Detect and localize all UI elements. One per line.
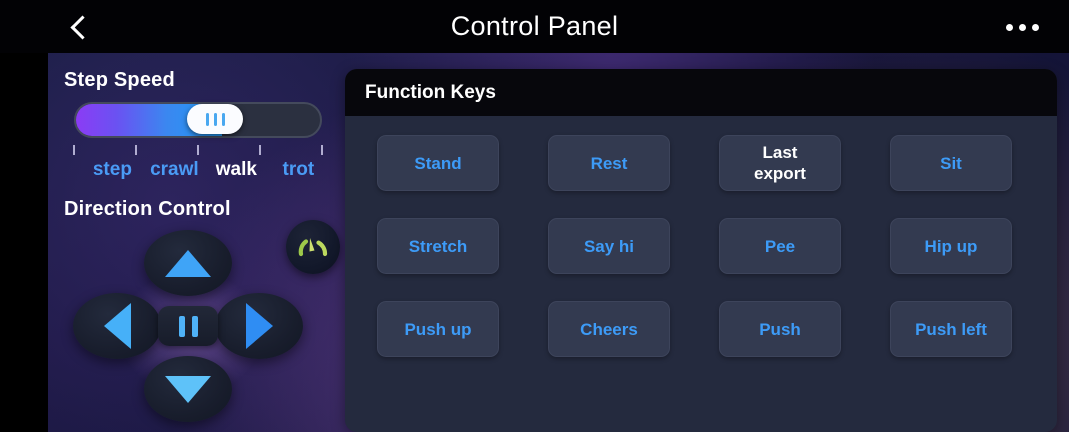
more-horizontal-icon [1032, 24, 1039, 31]
slider-tick [321, 145, 323, 155]
direction-left-button[interactable] [73, 293, 161, 359]
slider-tick [197, 145, 199, 155]
slider-tick [73, 145, 75, 155]
pause-icon [179, 316, 185, 337]
step-speed-title: Step Speed [64, 69, 175, 92]
slider-thumb[interactable] [187, 104, 243, 134]
direction-pad [58, 228, 328, 428]
step-speed-slider[interactable] [74, 102, 322, 138]
slider-option-crawl[interactable]: crawl [150, 159, 199, 181]
function-keys-panel: Function Keys StandRestLastexportSitStre… [345, 69, 1057, 432]
slider-option-step[interactable]: step [93, 159, 132, 181]
function-key-push-left[interactable]: Push left [890, 301, 1012, 357]
function-key-last-export[interactable]: Lastexport [719, 135, 841, 191]
function-key-sit[interactable]: Sit [890, 135, 1012, 191]
pause-icon [192, 316, 198, 337]
speedometer-icon [295, 229, 331, 265]
page-title: Control Panel [0, 0, 1069, 53]
slider-option-walk[interactable]: walk [216, 159, 257, 181]
triangle-down-icon [165, 376, 211, 403]
slider-tick-marks [74, 145, 322, 157]
function-keys-title: Function Keys [365, 82, 496, 104]
left-panel: Step Speed stepcrawlwalktrot Direction C… [48, 53, 345, 432]
drag-handle-icon [222, 113, 225, 126]
function-keys-row: StandRestLastexportSit [345, 135, 1057, 191]
function-key-stretch[interactable]: Stretch [377, 218, 499, 274]
drag-handle-icon [214, 113, 217, 126]
direction-right-button[interactable] [215, 293, 303, 359]
function-keys-grid: StandRestLastexportSitStretchSay hiPeeHi… [345, 116, 1057, 432]
drag-handle-icon [206, 113, 209, 126]
content-area: Step Speed stepcrawlwalktrot Direction C… [48, 53, 1069, 432]
direction-down-button[interactable] [144, 356, 232, 422]
function-key-push-up[interactable]: Push up [377, 301, 499, 357]
direction-control-title: Direction Control [64, 198, 231, 221]
function-keys-row: StretchSay hiPeeHip up [345, 218, 1057, 274]
slider-tick [259, 145, 261, 155]
direction-up-button[interactable] [144, 230, 232, 296]
speed-gauge-button[interactable] [286, 220, 340, 274]
function-keys-row: Push upCheersPushPush left [345, 301, 1057, 357]
slider-option-labels[interactable]: stepcrawlwalktrot [64, 159, 332, 185]
more-horizontal-icon [1006, 24, 1013, 31]
more-horizontal-icon [1019, 24, 1026, 31]
function-key-pee[interactable]: Pee [719, 218, 841, 274]
app-screen: Control Panel Step Speed stepcra [0, 0, 1069, 432]
top-bar: Control Panel [0, 0, 1069, 53]
function-keys-header: Function Keys [345, 69, 1057, 116]
slider-tick [135, 145, 137, 155]
function-key-hip-up[interactable]: Hip up [890, 218, 1012, 274]
triangle-up-icon [165, 250, 211, 277]
slider-option-trot[interactable]: trot [283, 159, 315, 181]
function-key-push[interactable]: Push [719, 301, 841, 357]
triangle-left-icon [104, 303, 131, 349]
function-key-stand[interactable]: Stand [377, 135, 499, 191]
pause-button[interactable] [158, 306, 218, 346]
function-key-say-hi[interactable]: Say hi [548, 218, 670, 274]
function-key-rest[interactable]: Rest [548, 135, 670, 191]
triangle-right-icon [246, 303, 273, 349]
function-key-cheers[interactable]: Cheers [548, 301, 670, 357]
more-options-button[interactable] [997, 8, 1047, 46]
